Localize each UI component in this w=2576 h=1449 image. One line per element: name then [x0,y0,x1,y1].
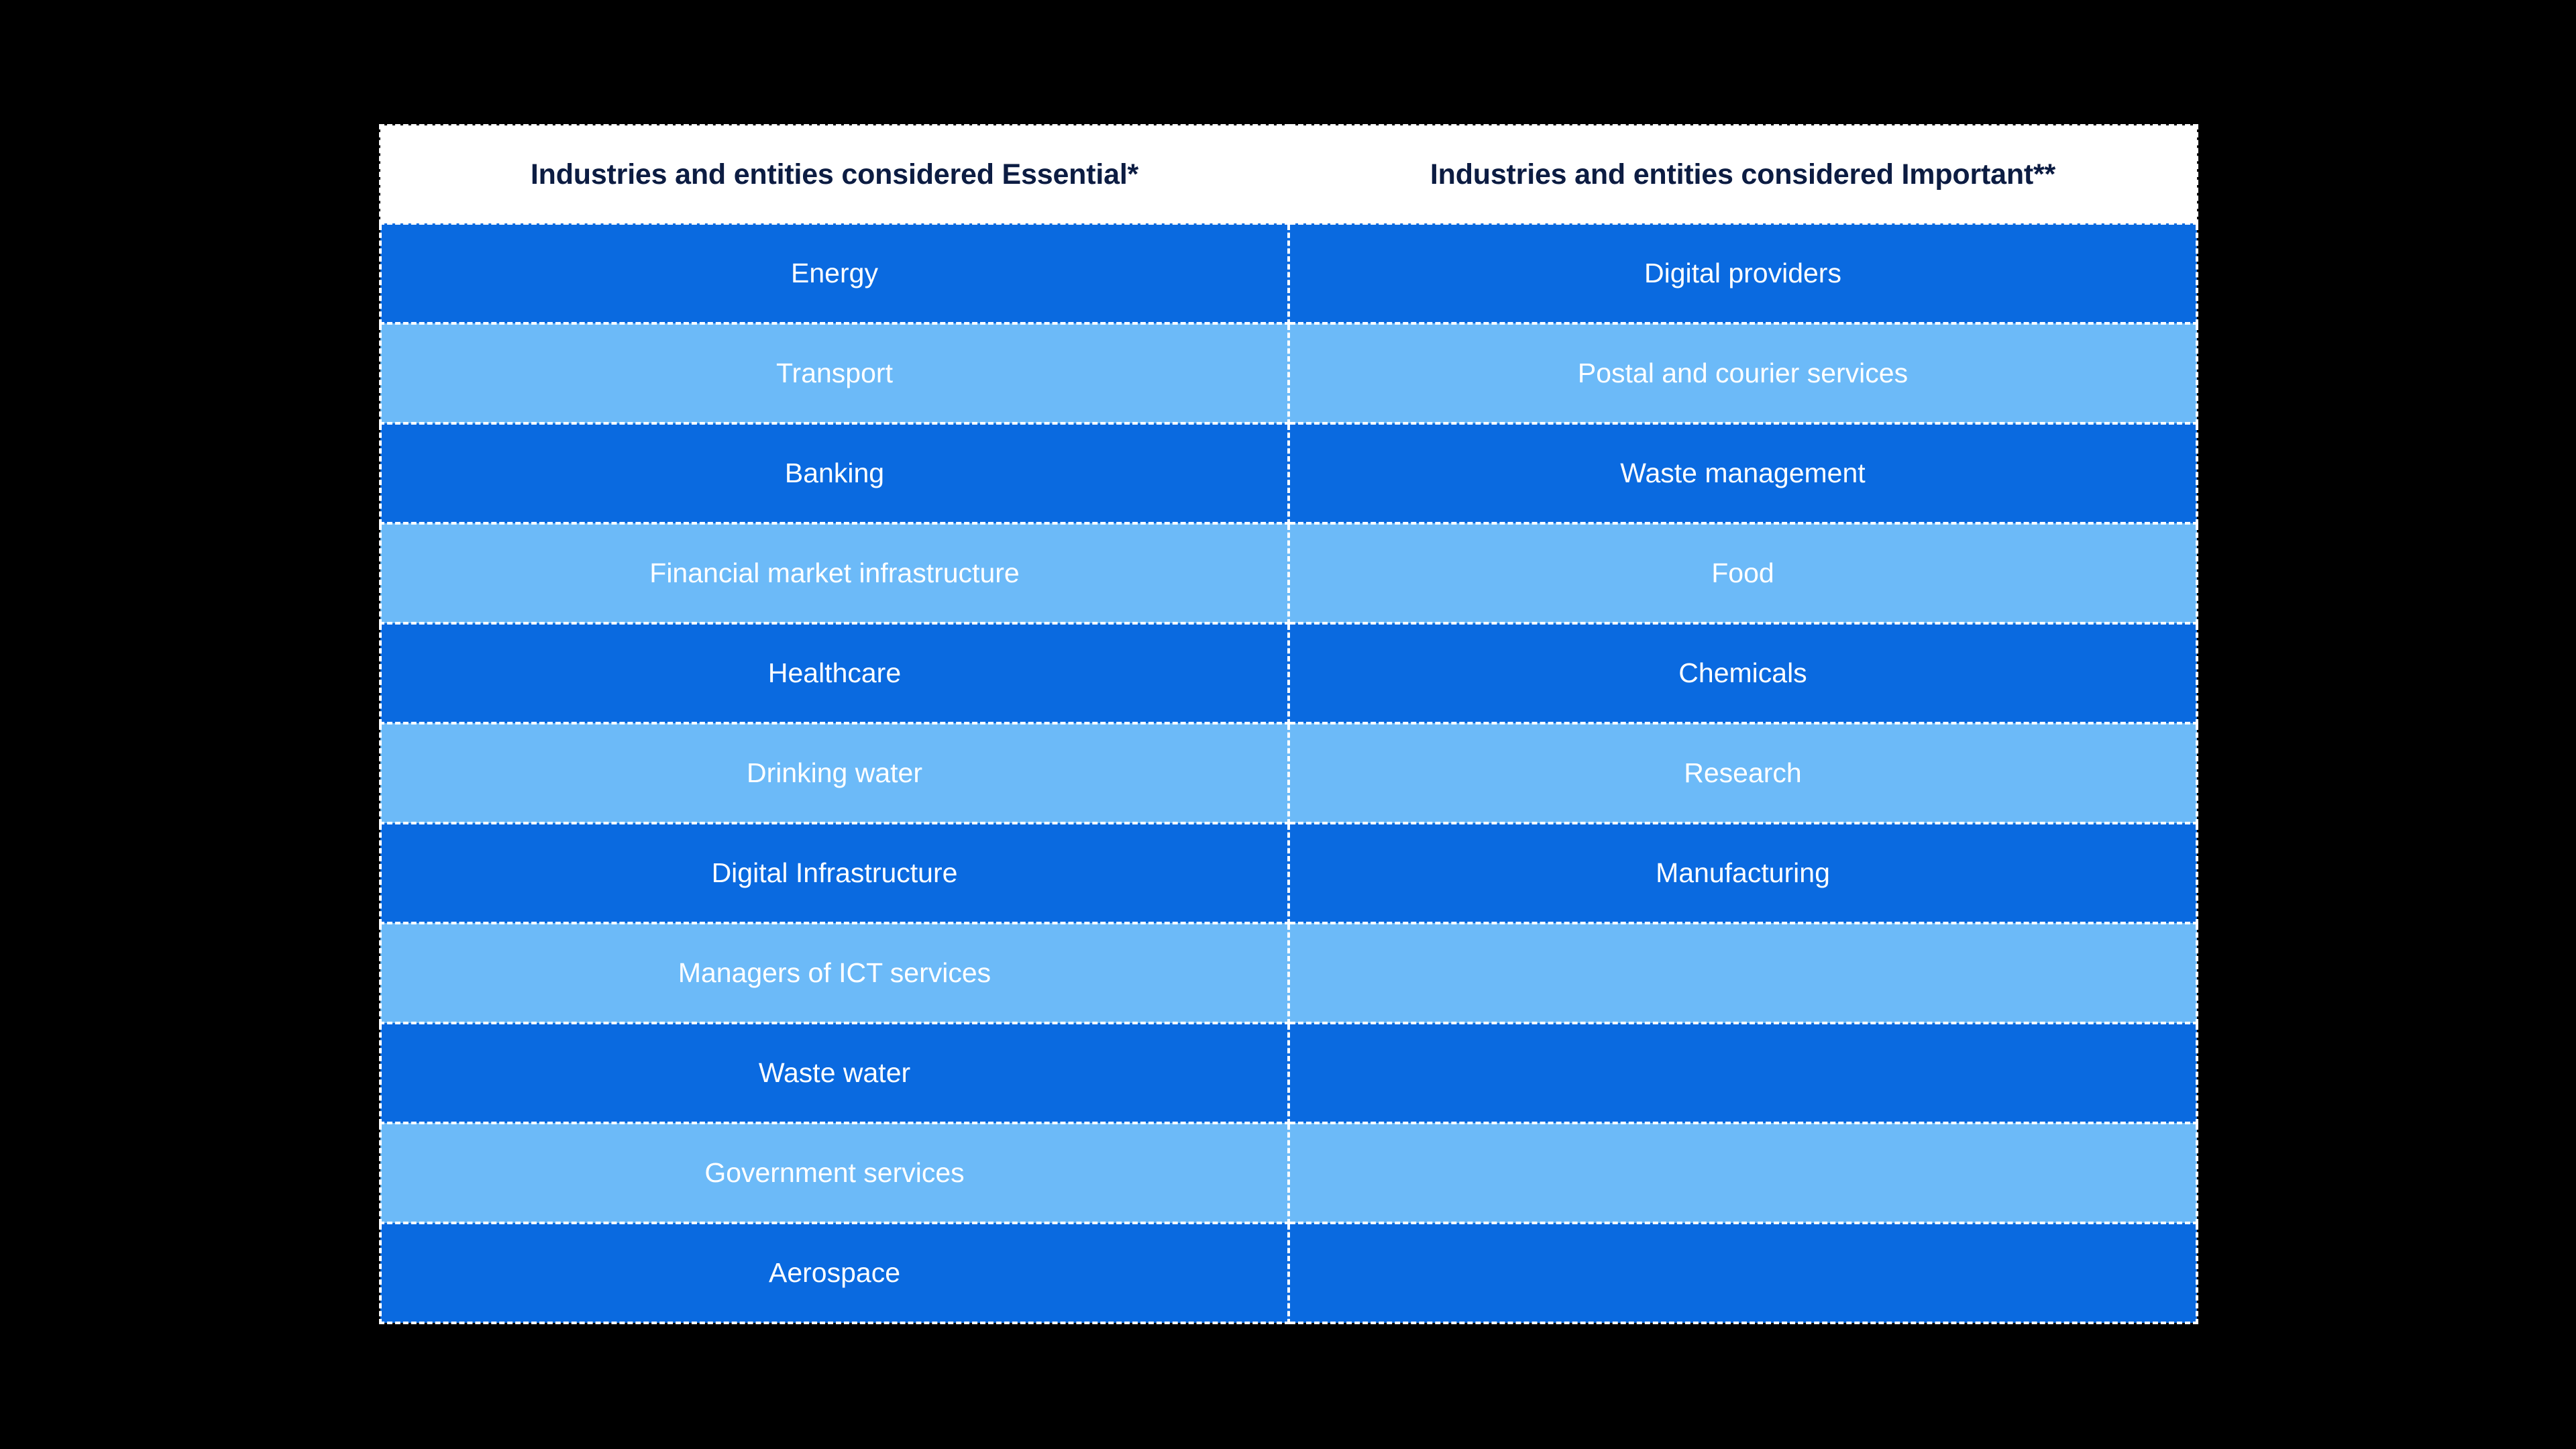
table-row: Waste water [380,1023,2197,1123]
table-cell-essential: Managers of ICT services [380,923,1289,1023]
table-cell-essential: Transport [380,323,1289,423]
table-cell-important: Chemicals [1289,623,2197,723]
table-row: Financial market infrastructureFood [380,523,2197,623]
table-row: Government services [380,1123,2197,1223]
table-row: BankingWaste management [380,423,2197,523]
header-row: Industries and entities considered Essen… [380,125,2197,223]
table-cell-important-empty [1289,1223,2197,1323]
table-cell-essential: Financial market infrastructure [380,523,1289,623]
table-cell-important: Digital providers [1289,223,2197,323]
table-row: Drinking waterResearch [380,723,2197,823]
essential-important-entities-table: Industries and entities considered Essen… [379,124,2198,1324]
table-cell-important: Food [1289,523,2197,623]
table-row: Managers of ICT services [380,923,2197,1023]
table-cell-essential: Digital Infrastructure [380,823,1289,923]
table-body: EnergyDigital providersTransportPostal a… [380,223,2197,1323]
table-cell-important: Manufacturing [1289,823,2197,923]
table-row: TransportPostal and courier services [380,323,2197,423]
column-header-important: Industries and entities considered Impor… [1289,125,2197,223]
table-cell-important: Research [1289,723,2197,823]
table-row: HealthcareChemicals [380,623,2197,723]
table-cell-important-empty [1289,1023,2197,1123]
table-cell-important-empty [1289,1123,2197,1223]
table-header: Industries and entities considered Essen… [380,125,2197,223]
table-cell-essential: Drinking water [380,723,1289,823]
table-cell-important: Waste management [1289,423,2197,523]
table-row: EnergyDigital providers [380,223,2197,323]
table-cell-essential: Banking [380,423,1289,523]
table-cell-important-empty [1289,923,2197,1023]
entities-table-container: Industries and entities considered Essen… [379,124,2198,1322]
table-cell-essential: Energy [380,223,1289,323]
table-row: Digital InfrastructureManufacturing [380,823,2197,923]
table-cell-essential: Aerospace [380,1223,1289,1323]
table-row: Aerospace [380,1223,2197,1323]
table-cell-essential: Government services [380,1123,1289,1223]
table-cell-important: Postal and courier services [1289,323,2197,423]
column-header-essential: Industries and entities considered Essen… [380,125,1289,223]
table-cell-essential: Waste water [380,1023,1289,1123]
table-cell-essential: Healthcare [380,623,1289,723]
